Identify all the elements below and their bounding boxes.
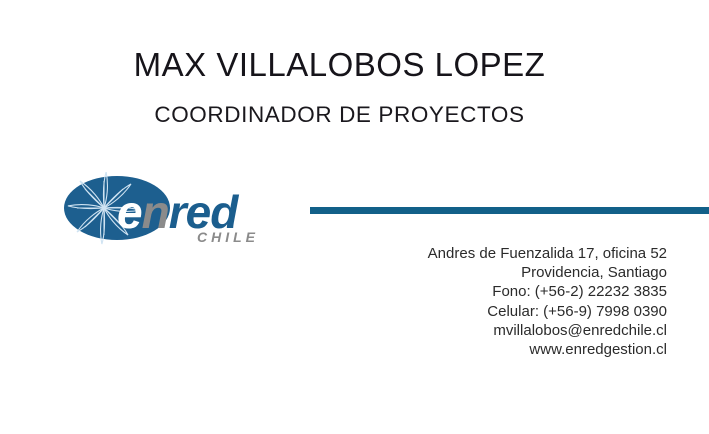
name-block: MAX VILLALOBOS LOPEZ COORDINADOR DE PROY…	[0, 48, 679, 127]
business-card: MAX VILLALOBOS LOPEZ COORDINADOR DE PROY…	[0, 0, 709, 434]
divider-rule	[310, 207, 709, 214]
contact-phone: Fono: (+56-2) 22232 3835	[428, 282, 667, 301]
page-title: MAX VILLALOBOS LOPEZ	[0, 48, 679, 81]
contact-block: Andres de Fuenzalida 17, oficina 52 Prov…	[428, 244, 667, 359]
contact-mobile: Celular: (+56-9) 7998 0390	[428, 302, 667, 321]
logo-wordmark-e: e	[117, 186, 142, 238]
contact-email[interactable]: mvillalobos@enredchile.cl	[428, 321, 667, 340]
contact-address-street: Andres de Fuenzalida 17, oficina 52	[428, 244, 667, 263]
contact-website[interactable]: www.enredgestion.cl	[428, 340, 667, 359]
job-title: COORDINADOR DE PROYECTOS	[0, 104, 679, 127]
enred-chile-logo: enred CHILE	[62, 172, 287, 248]
contact-address-city: Providencia, Santiago	[428, 263, 667, 282]
logo-tagline: CHILE	[197, 229, 259, 245]
logo-wordmark-n: n	[142, 186, 169, 238]
logo-svg: enred CHILE	[62, 172, 287, 248]
